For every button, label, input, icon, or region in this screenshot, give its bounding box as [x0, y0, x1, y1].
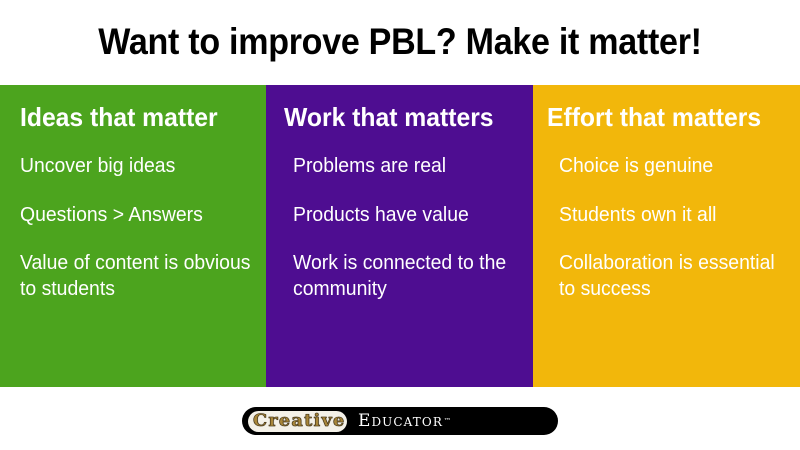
list-item: Problems are real [293, 153, 518, 179]
slide-canvas: Want to improve PBL? Make it matter! Ide… [0, 0, 800, 450]
column-work: Work that matters Problems are real Prod… [266, 85, 533, 387]
column-items-work: Problems are real Products have value Wo… [293, 153, 525, 302]
page-title: Want to improve PBL? Make it matter! [32, 12, 768, 72]
list-item: Work is connected to the community [293, 250, 518, 302]
list-item: Choice is genuine [559, 153, 785, 179]
logo-educator-text: Educator [358, 413, 443, 430]
column-ideas: Ideas that matter Uncover big ideas Ques… [0, 85, 266, 387]
column-items-ideas: Uncover big ideas Questions > Answers Va… [20, 153, 258, 302]
list-item: Uncover big ideas [20, 153, 251, 179]
column-heading-effort: Effort that matters [547, 102, 761, 132]
creative-educator-logo: Creative Educator ™ [242, 407, 558, 435]
list-item: Products have value [293, 202, 518, 228]
list-item: Collaboration is essential to success [559, 250, 785, 302]
list-item: Students own it all [559, 202, 785, 228]
columns-band: Ideas that matter Uncover big ideas Ques… [0, 85, 800, 387]
logo-creative-text: Creative [253, 413, 345, 430]
column-items-effort: Choice is genuine Students own it all Co… [559, 153, 792, 302]
list-item: Questions > Answers [20, 202, 251, 228]
trademark-icon: ™ [444, 417, 451, 425]
logo-creative-panel: Creative [248, 411, 347, 432]
column-effort: Effort that matters Choice is genuine St… [533, 85, 800, 387]
column-heading-work: Work that matters [284, 102, 494, 132]
list-item: Value of content is obvious to students [20, 250, 251, 302]
column-heading-ideas: Ideas that matter [20, 102, 218, 132]
